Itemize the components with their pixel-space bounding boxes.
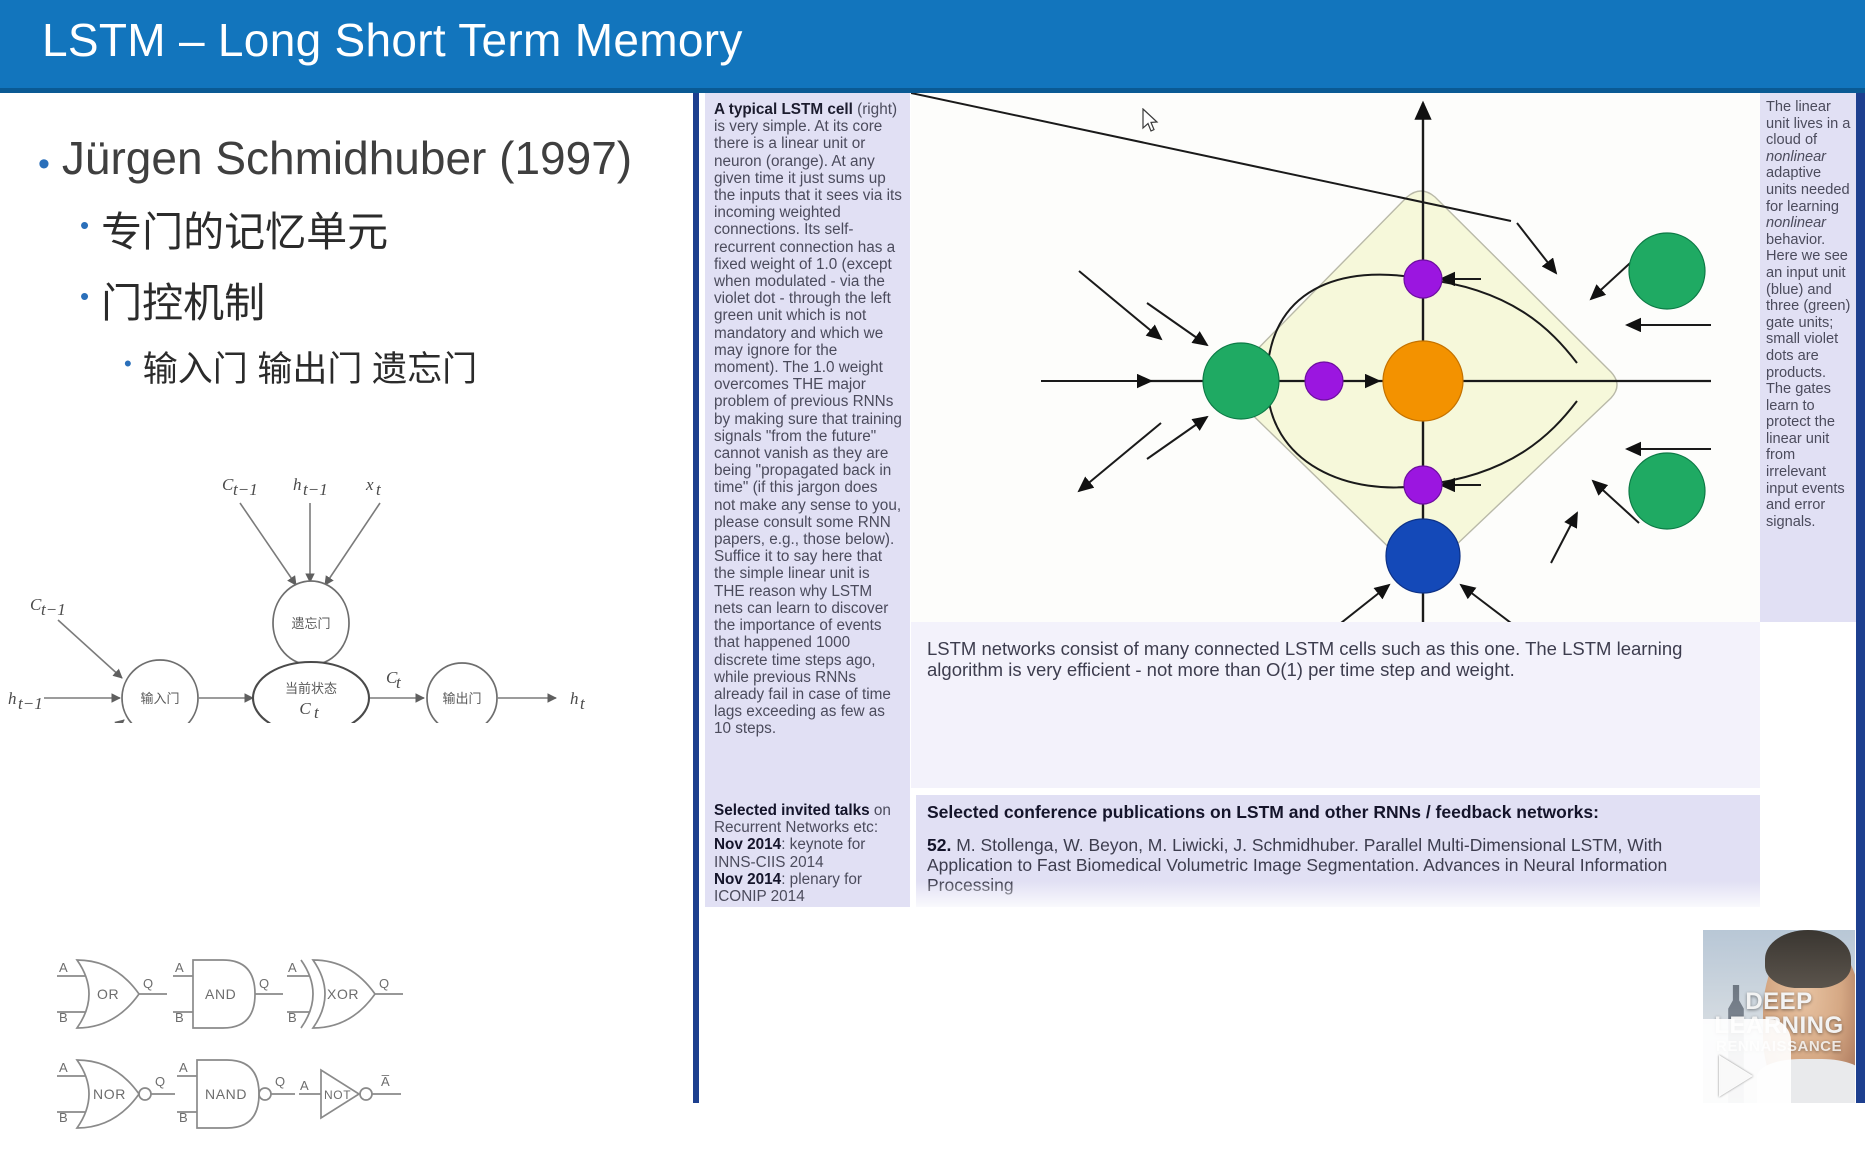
svg-text:t: t bbox=[396, 673, 402, 692]
left-column-body: (right) is very simple. At its core ther… bbox=[714, 101, 902, 737]
arrow-into-input-unit-right bbox=[1461, 585, 1511, 622]
label-c-prev-top: C t−1 bbox=[222, 475, 258, 499]
label-c-prev-left: C t−1 bbox=[30, 595, 66, 619]
svg-text:t−1: t−1 bbox=[303, 480, 328, 499]
pubs-clip-fade bbox=[916, 881, 1760, 907]
arrow-into-gate-left bbox=[1147, 303, 1207, 345]
input-unit bbox=[1386, 519, 1460, 593]
edge-xt-left-to-input bbox=[58, 720, 124, 723]
node-current-state-label: 当前状态 bbox=[285, 681, 337, 696]
logic-gate-nand: A B Q NAND bbox=[177, 1060, 295, 1128]
gate-input-a-label: A bbox=[288, 960, 297, 975]
svg-text:t−1: t−1 bbox=[233, 480, 258, 499]
label-h-prev-top: h t−1 bbox=[293, 475, 328, 499]
gate-type-label: NOR bbox=[93, 1086, 126, 1102]
right-column-p1: The linear unit lives in a cloud of bbox=[1766, 99, 1850, 148]
arrow-into-gate-topright-2 bbox=[1517, 223, 1556, 273]
edge-cprev-to-forget bbox=[240, 503, 296, 585]
gate-type-label: XOR bbox=[327, 986, 359, 1002]
gate-type-label: AND bbox=[205, 986, 236, 1002]
right-column-p2: adaptive units needed for learning bbox=[1766, 165, 1850, 214]
svg-text:x: x bbox=[365, 475, 374, 494]
node-input-gate-label: 输入门 bbox=[140, 691, 179, 706]
gate-input-b-label: B bbox=[59, 1110, 68, 1125]
gate-input-b-label: B bbox=[179, 1110, 188, 1125]
gate-input-b-label: B bbox=[59, 1010, 68, 1025]
bullet-item-schmidhuber: • Jürgen Schmidhuber (1997) bbox=[38, 131, 632, 185]
slide-left-content: • Jürgen Schmidhuber (1997) • 专门的记忆单元 • … bbox=[0, 93, 700, 1103]
node-forget-gate-label: 遗忘门 bbox=[291, 616, 330, 631]
figure-border-right bbox=[1856, 93, 1865, 1103]
gate-input-a-label: A bbox=[300, 1078, 309, 1093]
gate-input-a-label: A bbox=[59, 960, 68, 975]
pub-entry-number: 52. bbox=[927, 835, 951, 855]
label-ct-mid: C t bbox=[386, 668, 402, 692]
gate-output-q-label: Q bbox=[275, 1074, 285, 1089]
slide-title-bar: LSTM – Long Short Term Memory bbox=[0, 0, 1865, 88]
video-overlay-thumbnail[interactable]: DEEP LEARNING RENNAISSANCE bbox=[1703, 930, 1855, 1103]
talks-heading: Selected invited talks bbox=[714, 802, 870, 819]
lstm-flow-diagram: 遗忘门 输入门 当前状态 C t 输出门 bbox=[0, 378, 660, 723]
svg-text:h: h bbox=[570, 689, 579, 708]
right-column-p3: behavior. Here we see an input unit (blu… bbox=[1766, 232, 1850, 530]
gate-input-a-label: A bbox=[59, 1060, 68, 1075]
pubs-heading: Selected conference publications on LSTM… bbox=[927, 802, 1599, 822]
bullet-item-gating: • 门控机制 bbox=[80, 269, 265, 329]
gate-input-a-label: A bbox=[179, 1060, 188, 1075]
svg-text:t−1: t−1 bbox=[41, 600, 66, 619]
product-dot-bottom bbox=[1404, 466, 1442, 504]
label-xt-top: x t bbox=[365, 475, 382, 499]
play-button[interactable] bbox=[1703, 1019, 1791, 1103]
gate-input-b-label: B bbox=[288, 1010, 297, 1025]
selected-publications-box: Selected conference publications on LSTM… bbox=[916, 795, 1760, 907]
video-title-line1: DEEP bbox=[1703, 990, 1855, 1014]
mouse-cursor-icon bbox=[1142, 108, 1162, 136]
figure-caption-box: LSTM networks consist of many connected … bbox=[911, 622, 1760, 788]
left-column-lead: A typical LSTM cell bbox=[714, 101, 853, 118]
right-column-ital1: nonlinear bbox=[1766, 149, 1826, 165]
slide-bottom-clip-strip bbox=[699, 907, 1856, 1103]
logic-gate-nor: A B Q NOR bbox=[57, 1060, 175, 1128]
gate-input-a-label: A bbox=[175, 960, 184, 975]
arrow-into-input-unit-left bbox=[1341, 585, 1389, 622]
label-h-prev-left: h t−1 bbox=[8, 689, 43, 713]
logic-gates-figure: A B Q OR A B Q AND A B Q bbox=[55, 948, 475, 1163]
bullet-label: 门控机制 bbox=[101, 269, 265, 329]
bullet-dot-icon: • bbox=[124, 353, 132, 375]
play-triangle-icon bbox=[1719, 1055, 1753, 1097]
gate-output-q-label: Q bbox=[155, 1074, 165, 1089]
arrow-into-gate-left-2 bbox=[1147, 417, 1207, 459]
gate-output-q-label: Q bbox=[379, 976, 389, 991]
svg-text:t−1: t−1 bbox=[18, 694, 43, 713]
bullet-dot-icon: • bbox=[38, 147, 50, 181]
edge-cprev-left-to-input bbox=[58, 620, 122, 678]
gate-unit-top-right bbox=[1629, 233, 1705, 309]
node-current-state-symbol: C bbox=[299, 699, 311, 718]
edge-xt-to-forget bbox=[325, 503, 380, 585]
logic-gate-xor: A B Q XOR bbox=[287, 960, 403, 1028]
presenter-hair bbox=[1765, 930, 1851, 988]
svg-text:h: h bbox=[8, 689, 17, 708]
arrow-into-gate-bottomright-2 bbox=[1551, 513, 1577, 563]
figure-right-text-column: The linear unit lives in a cloud of nonl… bbox=[1760, 93, 1856, 622]
svg-text:t: t bbox=[580, 694, 586, 713]
talk-1-date: Nov 2014 bbox=[714, 836, 781, 853]
figure-caption-text: LSTM networks consist of many connected … bbox=[911, 622, 1760, 680]
logic-gate-not: A A̅ NOT bbox=[299, 1070, 401, 1118]
gate-type-label: NAND bbox=[205, 1086, 247, 1102]
svg-text:t: t bbox=[376, 480, 382, 499]
label-ht-right: h t bbox=[570, 689, 586, 713]
gate-output-q-label: Q bbox=[143, 976, 153, 991]
gate-type-label: NOT bbox=[324, 1088, 351, 1102]
bullet-label: Jürgen Schmidhuber (1997) bbox=[62, 131, 632, 185]
bullet-label: 专门的记忆单元 bbox=[101, 198, 388, 258]
gate-not-output-label: A̅ bbox=[381, 1074, 390, 1089]
product-dot-top bbox=[1404, 260, 1442, 298]
product-dot-left bbox=[1305, 362, 1343, 400]
gate-input-b-label: B bbox=[175, 1010, 184, 1025]
gate-unit-bottom-right bbox=[1629, 453, 1705, 529]
bullet-dot-icon: • bbox=[80, 212, 89, 238]
figure-left-text-column: A typical LSTM cell (right) is very simp… bbox=[705, 93, 910, 788]
gate-type-label: OR bbox=[97, 986, 119, 1002]
linear-unit-core bbox=[1383, 341, 1463, 421]
bullet-item-memory-unit: • 专门的记忆单元 bbox=[80, 198, 388, 258]
right-column-ital2: nonlinear bbox=[1766, 215, 1826, 231]
gate-unit-left bbox=[1203, 343, 1279, 419]
node-output-gate-label: 输出门 bbox=[442, 691, 481, 706]
logic-gate-or: A B Q OR bbox=[57, 960, 167, 1028]
page-title: LSTM – Long Short Term Memory bbox=[42, 13, 743, 67]
lstm-cell-diagram bbox=[911, 93, 1760, 622]
gate-output-q-label: Q bbox=[259, 976, 269, 991]
svg-text:h: h bbox=[293, 475, 302, 494]
logic-gate-and: A B Q AND bbox=[173, 960, 283, 1028]
talk-2-date: Nov 2014 bbox=[714, 871, 781, 888]
bullet-dot-icon: • bbox=[80, 283, 89, 309]
selected-invited-talks-box: Selected invited talks on Recurrent Netw… bbox=[705, 795, 910, 907]
